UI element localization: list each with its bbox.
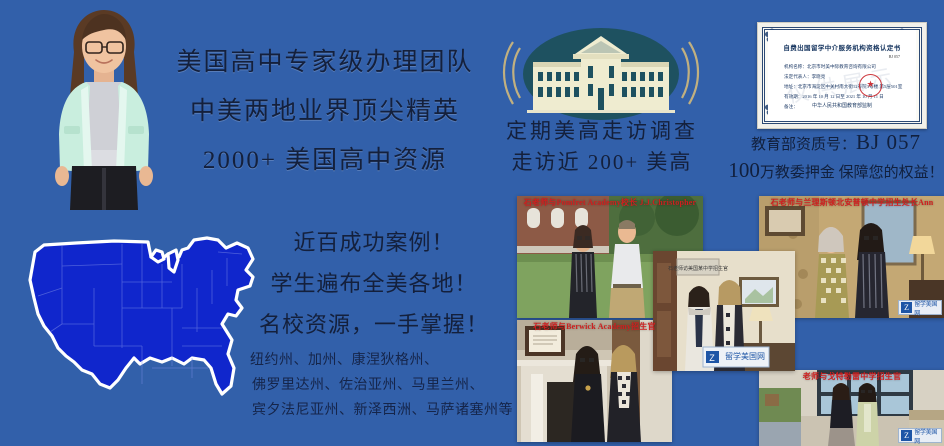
white-house-emblem-icon — [497, 22, 705, 120]
photo-center: 石老师访美国某中学招生官 — [653, 251, 795, 371]
slogan-line-2: 学生遍布全美各地！ — [248, 263, 500, 304]
consultant-portrait-photo — [28, 0, 180, 210]
qualification-number-line: 教育部资质号：BJ 057 — [728, 130, 944, 157]
certificate-inner: 自费出国留学中介服务机构资格认定书 BJ 057 仅供展示 机构名称：北京市时美… — [768, 30, 916, 121]
emblem-caption-line-1: 定期美高走访调查 — [492, 116, 712, 146]
emblem-caption-line-2: 走访近 200+ 美高 — [492, 146, 712, 178]
deposit-guarantee-line: 100万教委押金 保障您的权益！ — [728, 157, 944, 186]
deposit-amount: 100 — [728, 158, 760, 182]
states-line-2: 佛罗里达州、佐治亚州、马里兰州、 — [250, 373, 518, 398]
slogan-block: 近百成功案例！ 学生遍布全美各地！ 名校资源，一手掌握！ — [248, 222, 500, 345]
headline-block: 美国高中专家级办理团队 中美两地业界顶尖精英 2000+ 美国高中资源 — [170, 38, 480, 185]
watermark-mark: Z — [901, 430, 912, 441]
photo-caption: 石老师与兰理斯顿北安普顿中学招生处长Ann — [759, 197, 944, 208]
emblem-caption-block: 定期美高走访调查 走访近 200+ 美高 — [492, 116, 712, 178]
qualification-code: BJ 057 — [856, 130, 921, 154]
svg-text:Z: Z — [709, 353, 715, 363]
promo-banner: 美国高中专家级办理团队 中美两地业界顶尖精英 2000+ 美国高中资源 — [0, 0, 944, 446]
states-list-block: 纽约州、加州、康涅狄格州、 佛罗里达州、佐治亚州、马里兰州、 宾夕法尼亚州、新泽… — [250, 348, 518, 423]
certificate-title: 自费出国留学中介服务机构资格认定书 — [768, 42, 916, 52]
certificate-caption-block: 教育部资质号：BJ 057 100万教委押金 保障您的权益！ — [728, 130, 944, 186]
watermark-mark: Z — [901, 302, 912, 313]
svg-text:石老师访美国某中学招生官: 石老师访美国某中学招生官 — [668, 265, 728, 272]
photo-caption: 老师与戈特勒雷中学招生官 — [759, 371, 944, 382]
photo-caption: 石老师与Berwick Academy招生官 — [517, 321, 672, 332]
usa-map-icon — [22, 228, 270, 418]
certificate-footer: 中华人民共和国教育部监制 — [768, 102, 916, 109]
photo-caption: 石老师与Pomfret Academy校长 J.J.Christopher — [517, 197, 703, 208]
photo-bottom-left: 石老师与Berwick Academy招生官 — [517, 320, 672, 442]
watermark-text: 留学美国网 — [914, 299, 941, 317]
headline-line-3: 2000+ 美国高中资源 — [170, 136, 480, 185]
watermark-text: 留学美国网 — [914, 427, 941, 445]
watermark-logo: Z 留学美国网 — [898, 428, 942, 443]
slogan-line-1: 近百成功案例！ — [248, 222, 500, 263]
headline-line-1: 美国高中专家级办理团队 — [170, 38, 480, 87]
headline-line-2: 中美两地业界顶尖精英 — [170, 87, 480, 136]
svg-text:留学美国网: 留学美国网 — [725, 351, 765, 361]
states-line-1: 纽约州、加州、康涅狄格州、 — [250, 348, 518, 373]
certificate-row: 地址：北京市海淀区中关村南大街12号院3号楼 第5层501室 — [784, 84, 902, 90]
accreditation-certificate-image: ✿ ✿ ✿ ✿ 自费出国留学中介服务机构资格认定书 BJ 057 仅供展示 机构… — [757, 22, 927, 129]
watermark-logo: Z 留学美国网 — [898, 300, 942, 315]
qualification-prefix: 教育部资质号： — [751, 137, 856, 153]
official-red-seal: ★ — [859, 74, 882, 97]
certificate-row: 机构名称：北京市时美中际教育咨询有限公司 — [784, 64, 876, 70]
photo-bottom-right: 老师与戈特勒雷中学招生官 — [759, 370, 944, 446]
slogan-line-3: 名校资源，一手掌握！ — [248, 304, 500, 345]
deposit-text: 万教委押金 保障您的权益！ — [760, 165, 944, 181]
certificate-row: 法定代表人：李晓亮 — [784, 74, 825, 80]
states-line-3: 宾夕法尼亚州、新泽西洲、马萨诸塞州等 — [250, 398, 518, 423]
